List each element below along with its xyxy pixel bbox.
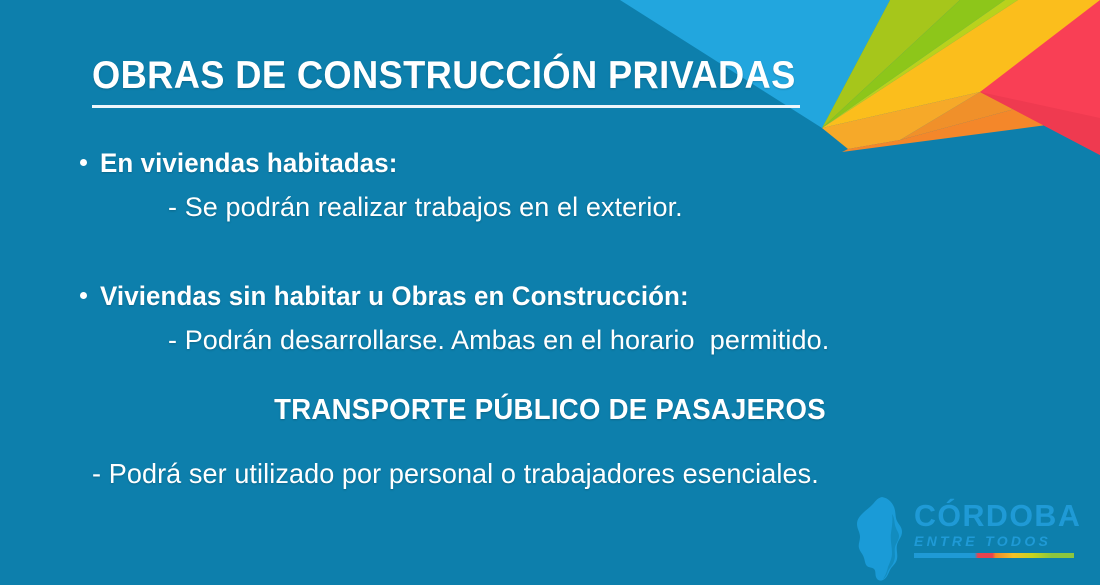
- page-title: OBRAS DE CONSTRUCCIÓN PRIVADAS: [92, 56, 754, 97]
- title-underline-rule: [92, 105, 800, 108]
- transport-section-detail: - Podrá ser utilizado por personal o tra…: [92, 458, 819, 490]
- green-wedge-shape: [822, 0, 1005, 128]
- section-detail: - Podrán desarrollarse. Ambas en el hora…: [168, 325, 829, 355]
- cordoba-province-map-icon: [852, 496, 914, 582]
- bullet-dot-icon: [80, 292, 87, 299]
- logo-color-bar: [914, 553, 1074, 558]
- lime-wedge-shape: [822, 0, 1018, 128]
- title-block: OBRAS DE CONSTRUCCIÓN PRIVADAS: [92, 56, 804, 97]
- slide-canvas: OBRAS DE CONSTRUCCIÓN PRIVADAS En vivien…: [0, 0, 1100, 585]
- section-detail: - Se podrán realizar trabajos en el exte…: [168, 192, 683, 222]
- transport-section-heading: TRANSPORTE PÚBLICO DE PASAJEROS: [28, 394, 1073, 427]
- section-detail-wrapper: - Se podrán realizar trabajos en el exte…: [168, 192, 683, 223]
- amber-wedge-shape: [900, 40, 1100, 140]
- logo-name: CÓRDOBA: [914, 500, 1086, 531]
- section-heading-row: Viviendas sin habitar u Obras en Constru…: [80, 281, 829, 312]
- orange-wedge-shape: [822, 92, 980, 149]
- gold-wedge-shape: [980, 8, 1100, 92]
- cordoba-logo: CÓRDOBA ENTRE TODOS: [852, 494, 1092, 582]
- orange-lower-shape: [842, 86, 1100, 152]
- olive-wedge-shape: [822, 0, 960, 128]
- bullet-dot-icon: [80, 159, 87, 166]
- section-private-works-inhabited: En viviendas habitadas: - Se podrán real…: [80, 148, 683, 223]
- yellow-wedge-shape: [822, 0, 1100, 128]
- section-heading-row: En viviendas habitadas:: [80, 148, 683, 179]
- section-detail-wrapper: - Podrán desarrollarse. Ambas en el hora…: [168, 325, 829, 356]
- logo-tagline: ENTRE TODOS: [914, 534, 1089, 548]
- red-triangle-shape: [980, 0, 1100, 155]
- section-heading: Viviendas sin habitar u Obras en Constru…: [100, 281, 689, 312]
- section-private-works-uninhabited: Viviendas sin habitar u Obras en Constru…: [80, 281, 829, 356]
- logo-wordmark: CÓRDOBA ENTRE TODOS: [914, 500, 1089, 558]
- red-lower-shape: [980, 92, 1100, 155]
- section-heading: En viviendas habitadas:: [100, 148, 398, 179]
